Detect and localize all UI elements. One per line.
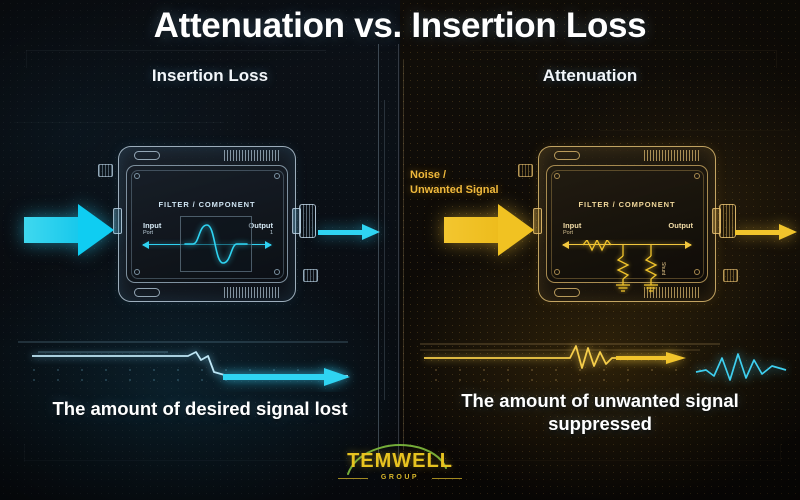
decor-line-bottom-right (436, 460, 780, 461)
input-label-text: Input (143, 221, 161, 230)
output-label-text: Output (668, 221, 693, 230)
decor-line-top-left (26, 50, 326, 51)
attenuation-trace-graphic (420, 336, 792, 392)
decor-tick-right (776, 50, 777, 68)
page-title: Attenuation vs. Insertion Loss (0, 6, 800, 46)
temwell-logo: TEMWELL GROUP (330, 448, 470, 494)
sine-waveform-icon (181, 217, 251, 271)
side-connector-bottom (303, 269, 318, 282)
shunt-resistor-2-symbol (646, 256, 656, 279)
noise-label-line2: Unwanted Signal (410, 183, 535, 198)
left-panel-heading: Insertion Loss (100, 66, 320, 86)
device-title-right: FILTER / COMPONENT (547, 200, 707, 209)
arrow-head (498, 204, 534, 256)
ground-symbol-1 (616, 285, 630, 291)
ground-symbol-2 (644, 285, 658, 291)
decor-tick-left (26, 50, 27, 68)
decor-line-left-a (14, 122, 224, 123)
signal-arrow-in (142, 241, 149, 249)
center-divider-3 (398, 44, 399, 464)
screw-top-left (554, 173, 560, 179)
arrow-shaft (318, 230, 364, 235)
insertion-loss-trace-graphic (18, 336, 380, 392)
arrow-shaft (24, 217, 80, 243)
heatsink-fins-bottom (224, 287, 280, 298)
heatsink-fins-top (644, 150, 700, 161)
input-sub-text: Port (143, 230, 161, 237)
center-divider-2 (384, 100, 385, 400)
input-port-label-right: Input Port (563, 221, 581, 237)
noise-unwanted-signal-label: Noise / Unwanted Signal (410, 168, 535, 198)
output-signal-arrow-left (318, 224, 380, 240)
screw-bottom-left (134, 269, 140, 275)
filter-device-right: FILTER / COMPONENT Input Port Output (538, 146, 716, 302)
filter-device-left: FILTER / COMPONENT Input Port Output 1 (118, 146, 296, 302)
signal-trace-left (18, 336, 380, 392)
screw-bottom-left (554, 269, 560, 275)
mount-slot-bottom (134, 288, 160, 297)
arrow-head (779, 224, 797, 240)
attenuator-resistor-network: Shunt (561, 240, 693, 294)
trace-dot-grid (435, 369, 701, 381)
trace-output-arrow (223, 368, 350, 386)
input-signal-arrow-left (24, 204, 120, 256)
output-port-label-right: Output (668, 221, 693, 230)
screw-top-right (274, 173, 280, 179)
noise-label-line1: Noise / (410, 168, 535, 183)
output-sub-text: 1 (248, 230, 273, 237)
input-port-label-left: Input Port (143, 221, 161, 237)
arrow-shaft (735, 230, 781, 235)
screw-bottom-right (274, 269, 280, 275)
device-enclosure-inner: FILTER / COMPONENT Input Port Output 1 (126, 165, 288, 283)
decor-line-top-right (470, 50, 776, 51)
logo-wordmark: TEMWELL (330, 450, 470, 473)
diagram-canvas: Attenuation vs. Insertion Loss Insertion… (0, 0, 800, 500)
signal-trace-right (420, 336, 792, 392)
mount-slot-top (554, 151, 580, 160)
signal-arrow-out (265, 241, 272, 249)
heatsink-fins-top (224, 150, 280, 161)
trace-output-arrow (616, 352, 686, 364)
insertion-loss-waveform (32, 352, 348, 376)
right-panel-heading: Attenuation (480, 66, 700, 86)
right-panel-caption: The amount of unwanted signal suppressed (408, 390, 792, 435)
side-connector-bottom (723, 269, 738, 282)
center-divider-4 (403, 60, 404, 450)
arrow-shaft (444, 217, 500, 243)
series-resistor-symbol (583, 240, 611, 250)
logo-subtitle: GROUP (330, 474, 470, 481)
suppressed-noise-waveform (696, 354, 786, 380)
mount-slot-top (134, 151, 160, 160)
left-panel-caption: The amount of desired signal lost (12, 398, 388, 421)
device-title-left: FILTER / COMPONENT (127, 200, 287, 209)
input-signal-arrow-right (444, 204, 540, 256)
decor-line-bottom-left (24, 460, 364, 461)
shunt-resistor-1-symbol (618, 256, 628, 279)
screw-bottom-right (694, 269, 700, 275)
screw-top-left (134, 173, 140, 179)
output-port-label-left: Output 1 (248, 221, 273, 237)
side-connector-top (98, 164, 113, 177)
output-signal-arrow-right (735, 224, 793, 240)
shunt-text-label: Shunt (660, 262, 666, 276)
decor-tick-br (780, 444, 781, 462)
arrow-head (78, 204, 114, 256)
input-sub-text: Port (563, 230, 581, 237)
decor-tick-bl (24, 444, 25, 462)
waveform-window (180, 216, 252, 272)
decor-line-right-a (600, 130, 790, 131)
coax-connector (299, 204, 316, 238)
output-label-text: Output (248, 221, 273, 230)
device-enclosure-inner: FILTER / COMPONENT Input Port Output (546, 165, 708, 283)
coax-connector (719, 204, 736, 238)
input-label-text: Input (563, 221, 581, 230)
screw-top-right (694, 173, 700, 179)
